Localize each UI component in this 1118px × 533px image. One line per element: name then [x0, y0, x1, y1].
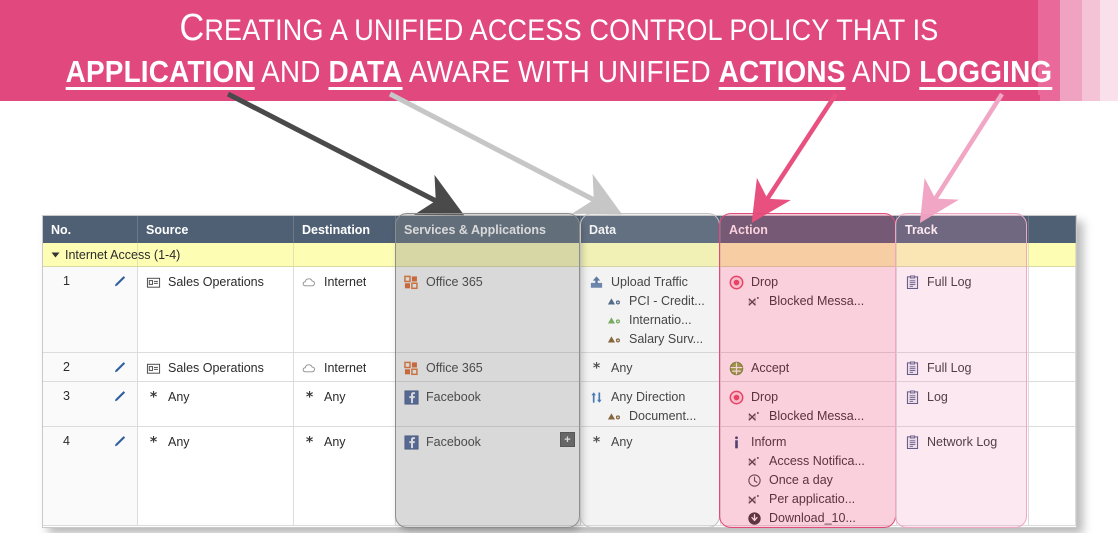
- data-entry-label: Any: [611, 434, 633, 451]
- table-row[interactable]: 2Sales OperationsInternetOffice 365*AnyA…: [43, 353, 1076, 382]
- cell-data[interactable]: Upload TrafficPCI - Credit...Internatio.…: [581, 267, 721, 352]
- banner-drop-cap: C: [179, 7, 204, 49]
- asterisk-icon: *: [589, 435, 604, 450]
- column-header-no[interactable]: No.: [43, 216, 138, 243]
- add-application-button[interactable]: +: [560, 432, 575, 447]
- office365-icon: [404, 275, 419, 290]
- banner-text-and-1: AND: [255, 54, 329, 89]
- cell-no[interactable]: 4: [43, 427, 138, 525]
- svg-text:*: *: [593, 435, 601, 450]
- track-entry[interactable]: Log: [905, 389, 1022, 406]
- cell-track[interactable]: Full Log: [897, 267, 1029, 352]
- data-entry[interactable]: *Any: [589, 360, 714, 377]
- action-entry[interactable]: Blocked Messa...: [729, 408, 890, 425]
- column-header-data[interactable]: Data: [581, 216, 721, 243]
- download-icon: [747, 511, 762, 525]
- office365-icon: [404, 361, 419, 376]
- id-badge-icon: [146, 275, 161, 290]
- drop-icon: [729, 390, 744, 405]
- action-entry[interactable]: Access Notifica...: [729, 453, 890, 470]
- cell-no[interactable]: 3: [43, 382, 138, 426]
- action-entry[interactable]: Drop: [729, 274, 890, 291]
- inform-icon: [729, 435, 744, 450]
- column-header-source[interactable]: Source: [138, 216, 294, 243]
- cell-services[interactable]: Facebook: [396, 382, 581, 426]
- section-spacer-cell: [294, 243, 396, 266]
- cell-blank[interactable]: [1029, 427, 1076, 525]
- action-entry[interactable]: Per applicatio...: [729, 491, 890, 508]
- action-entry[interactable]: Once a day: [729, 472, 890, 489]
- datatype-brown-icon: [607, 409, 622, 424]
- svg-text:*: *: [150, 390, 158, 405]
- data-entry[interactable]: Internatio...: [589, 312, 714, 329]
- action-entry-label: Per applicatio...: [769, 491, 855, 508]
- destination-entry[interactable]: *Any: [302, 389, 389, 406]
- data-entry[interactable]: Any Direction: [589, 389, 714, 406]
- destination-entry[interactable]: Internet: [302, 274, 389, 291]
- svg-text:*: *: [306, 390, 314, 405]
- action-entry-label: Inform: [751, 434, 786, 451]
- track-entry-label: Network Log: [927, 434, 997, 451]
- destination-entry-label: Internet: [324, 274, 366, 291]
- arrow-to-services: [228, 94, 442, 204]
- blocked-message-icon: [747, 409, 762, 424]
- services-entry-label: Office 365: [426, 274, 483, 291]
- action-entry[interactable]: Download_10...: [729, 510, 890, 525]
- cell-blank[interactable]: [1029, 382, 1076, 426]
- asterisk-icon: *: [302, 390, 317, 405]
- action-entry-label: Accept: [751, 360, 789, 377]
- source-entry-label: Any: [168, 389, 190, 406]
- data-entry-label: PCI - Credit...: [629, 293, 705, 310]
- data-entry-label: Upload Traffic: [611, 274, 688, 291]
- svg-text:*: *: [150, 435, 158, 450]
- blocked-message-icon: [747, 454, 762, 469]
- source-entry[interactable]: *Any: [146, 434, 287, 451]
- source-entry-label: Any: [168, 434, 190, 451]
- facebook-icon: [404, 390, 419, 405]
- action-entry[interactable]: Accept: [729, 360, 890, 377]
- caret-down-icon[interactable]: [52, 252, 60, 257]
- arrow-to-data: [390, 94, 600, 203]
- services-entry-label: Facebook: [426, 434, 481, 451]
- cell-data[interactable]: *Any: [581, 353, 721, 381]
- upload-icon: [589, 275, 604, 290]
- data-entry[interactable]: Salary Surv...: [589, 331, 714, 348]
- cell-track[interactable]: Full Log: [897, 353, 1029, 381]
- rule-number: 2: [51, 360, 70, 374]
- table-body: 1Sales OperationsInternetOffice 365Uploa…: [43, 267, 1076, 526]
- table-header-row: No.SourceDestinationServices & Applicati…: [43, 216, 1076, 243]
- banner-emphasis-actions: ACTIONS: [719, 54, 846, 89]
- cloud-icon: [302, 361, 317, 376]
- banner-title-line-1-text: REATING A UNIFIED ACCESS CONTROL POLICY …: [204, 14, 938, 47]
- track-entry-label: Full Log: [927, 360, 971, 377]
- section-row-internet-access[interactable]: Internet Access (1-4): [43, 243, 1076, 267]
- cell-destination[interactable]: Internet: [294, 353, 396, 381]
- banner-text-aware: AWARE WITH UNIFIED: [403, 54, 719, 89]
- banner-emphasis-application: APPLICATION: [66, 54, 255, 89]
- svg-text:*: *: [306, 435, 314, 450]
- asterisk-icon: *: [146, 390, 161, 405]
- rule-number: 3: [51, 389, 70, 403]
- column-header-services-applications[interactable]: Services & Applications: [396, 216, 581, 243]
- source-entry-label: Sales Operations: [168, 274, 264, 291]
- action-entry[interactable]: Blocked Messa...: [729, 293, 890, 310]
- action-entry-label: Drop: [751, 389, 778, 406]
- banner-emphasis-logging: LOGGING: [919, 54, 1052, 89]
- cell-source[interactable]: Sales Operations: [138, 353, 294, 381]
- track-entry-label: Log: [927, 389, 948, 406]
- destination-entry-label: Any: [324, 389, 346, 406]
- column-header-action[interactable]: Action: [721, 216, 897, 243]
- destination-entry[interactable]: *Any: [302, 434, 389, 451]
- action-entry[interactable]: Drop: [729, 389, 890, 406]
- action-entry-label: Blocked Messa...: [769, 293, 864, 310]
- action-entry[interactable]: Inform: [729, 434, 890, 451]
- cell-source[interactable]: Sales Operations: [138, 267, 294, 352]
- services-entry-label: Office 365: [426, 360, 483, 377]
- log-icon: [905, 361, 920, 376]
- log-icon: [905, 390, 920, 405]
- cell-blank[interactable]: [1029, 267, 1076, 352]
- blocked-message-icon: [747, 492, 762, 507]
- pencil-icon[interactable]: [112, 360, 127, 375]
- section-spacer-cell: [1029, 243, 1076, 266]
- track-entry[interactable]: Network Log: [905, 434, 1022, 451]
- destination-entry[interactable]: Internet: [302, 360, 389, 377]
- data-entry[interactable]: Document...: [589, 408, 714, 425]
- security-rulebase-table[interactable]: No.SourceDestinationServices & Applicati…: [42, 215, 1077, 528]
- pencil-icon[interactable]: [112, 274, 127, 289]
- cell-data[interactable]: *Any: [581, 427, 721, 525]
- cell-destination[interactable]: Internet: [294, 267, 396, 352]
- services-entry[interactable]: Office 365: [404, 360, 574, 377]
- cell-data[interactable]: Any DirectionDocument...: [581, 382, 721, 426]
- cell-action[interactable]: DropBlocked Messa...: [721, 382, 897, 426]
- column-header-track[interactable]: Track: [897, 216, 1029, 243]
- pencil-icon[interactable]: [112, 389, 127, 404]
- facebook-icon: [404, 435, 419, 450]
- banner-fade-2: [1060, 0, 1082, 101]
- section-spacer-cell: [721, 243, 897, 266]
- cell-destination[interactable]: *Any: [294, 382, 396, 426]
- drop-icon: [729, 275, 744, 290]
- cell-source[interactable]: *Any: [138, 382, 294, 426]
- data-entry-label: Any Direction: [611, 389, 685, 406]
- action-entry-label: Drop: [751, 274, 778, 291]
- id-badge-icon: [146, 361, 161, 376]
- track-entry[interactable]: Full Log: [905, 274, 1022, 291]
- services-entry[interactable]: Facebook: [404, 389, 574, 406]
- action-entry-label: Access Notifica...: [769, 453, 865, 470]
- cell-action[interactable]: DropBlocked Messa...: [721, 267, 897, 352]
- data-entry-label: Any: [611, 360, 633, 377]
- blocked-message-icon: [747, 294, 762, 309]
- track-entry[interactable]: Full Log: [905, 360, 1022, 377]
- cell-no[interactable]: 2: [43, 353, 138, 381]
- cell-destination[interactable]: *Any: [294, 427, 396, 525]
- column-header-blank[interactable]: [1029, 216, 1076, 243]
- data-entry-label: Salary Surv...: [629, 331, 703, 348]
- destination-entry-label: Internet: [324, 360, 366, 377]
- banner-title-line-1: CREATING A UNIFIED ACCESS CONTROL POLICY…: [56, 7, 1062, 50]
- column-header-destination[interactable]: Destination: [294, 216, 396, 243]
- banner-bottom-strip: [0, 95, 1040, 101]
- table-row[interactable]: 4*Any*AnyFacebook+*AnyInformAccess Notif…: [43, 427, 1076, 526]
- cell-blank[interactable]: [1029, 353, 1076, 381]
- table-row[interactable]: 1Sales OperationsInternetOffice 365Uploa…: [43, 267, 1076, 353]
- svg-text:*: *: [593, 361, 601, 376]
- cell-action[interactable]: Accept: [721, 353, 897, 381]
- services-entry[interactable]: Facebook: [404, 434, 574, 451]
- banner-emphasis-data: DATA: [328, 54, 402, 89]
- section-spacer-cell: [581, 243, 721, 266]
- cell-services[interactable]: Office 365: [396, 267, 581, 352]
- cell-action[interactable]: InformAccess Notifica...Once a dayPer ap…: [721, 427, 897, 525]
- cell-services[interactable]: Facebook+: [396, 427, 581, 525]
- source-entry[interactable]: Sales Operations: [146, 360, 287, 377]
- destination-entry-label: Any: [324, 434, 346, 451]
- cloud-icon: [302, 275, 317, 290]
- accept-icon: [729, 361, 744, 376]
- action-entry-label: Download_10...: [769, 510, 856, 525]
- log-icon: [905, 275, 920, 290]
- data-entry-label: Internatio...: [629, 312, 692, 329]
- arrow-to-action: [764, 94, 836, 204]
- asterisk-icon: *: [589, 361, 604, 376]
- services-entry[interactable]: Office 365: [404, 274, 574, 291]
- source-entry-label: Sales Operations: [168, 360, 264, 377]
- asterisk-icon: *: [146, 435, 161, 450]
- asterisk-icon: *: [302, 435, 317, 450]
- cell-no[interactable]: 1: [43, 267, 138, 352]
- banner-fade-4: [1100, 0, 1118, 101]
- track-entry-label: Full Log: [927, 274, 971, 291]
- section-spacer-cell: [138, 243, 294, 266]
- cell-track[interactable]: Log: [897, 382, 1029, 426]
- rule-number: 1: [51, 274, 70, 288]
- title-banner: CREATING A UNIFIED ACCESS CONTROL POLICY…: [0, 0, 1118, 101]
- source-entry[interactable]: *Any: [146, 389, 287, 406]
- banner-title-line-2: APPLICATION AND DATA AWARE WITH UNIFIED …: [56, 54, 1062, 90]
- cell-track[interactable]: Network Log: [897, 427, 1029, 525]
- data-entry[interactable]: PCI - Credit...: [589, 293, 714, 310]
- cell-source[interactable]: *Any: [138, 427, 294, 525]
- services-entry-label: Facebook: [426, 389, 481, 406]
- arrow-to-track: [932, 94, 1002, 204]
- section-spacer-cell: [897, 243, 1029, 266]
- rule-number: 4: [51, 434, 70, 448]
- section-spacer-cell: [396, 243, 581, 266]
- pencil-icon[interactable]: [112, 434, 127, 449]
- datatype-brown-icon: [607, 332, 622, 347]
- banner-text-and-2: AND: [846, 54, 920, 89]
- data-entry[interactable]: *Any: [589, 434, 714, 451]
- section-label-cell[interactable]: Internet Access (1-4): [43, 243, 138, 266]
- clock-icon: [747, 473, 762, 488]
- action-entry-label: Blocked Messa...: [769, 408, 864, 425]
- datatype-green-icon: [607, 313, 622, 328]
- banner-fade-3: [1082, 0, 1100, 101]
- table-row[interactable]: 3*Any*AnyFacebookAny DirectionDocument..…: [43, 382, 1076, 427]
- data-entry-label: Document...: [629, 408, 696, 425]
- cell-services[interactable]: Office 365: [396, 353, 581, 381]
- log-icon: [905, 435, 920, 450]
- source-entry[interactable]: Sales Operations: [146, 274, 287, 291]
- any-direction-icon: [589, 390, 604, 405]
- datatype-blue-icon: [607, 294, 622, 309]
- action-entry-label: Once a day: [769, 472, 833, 489]
- data-entry[interactable]: Upload Traffic: [589, 274, 714, 291]
